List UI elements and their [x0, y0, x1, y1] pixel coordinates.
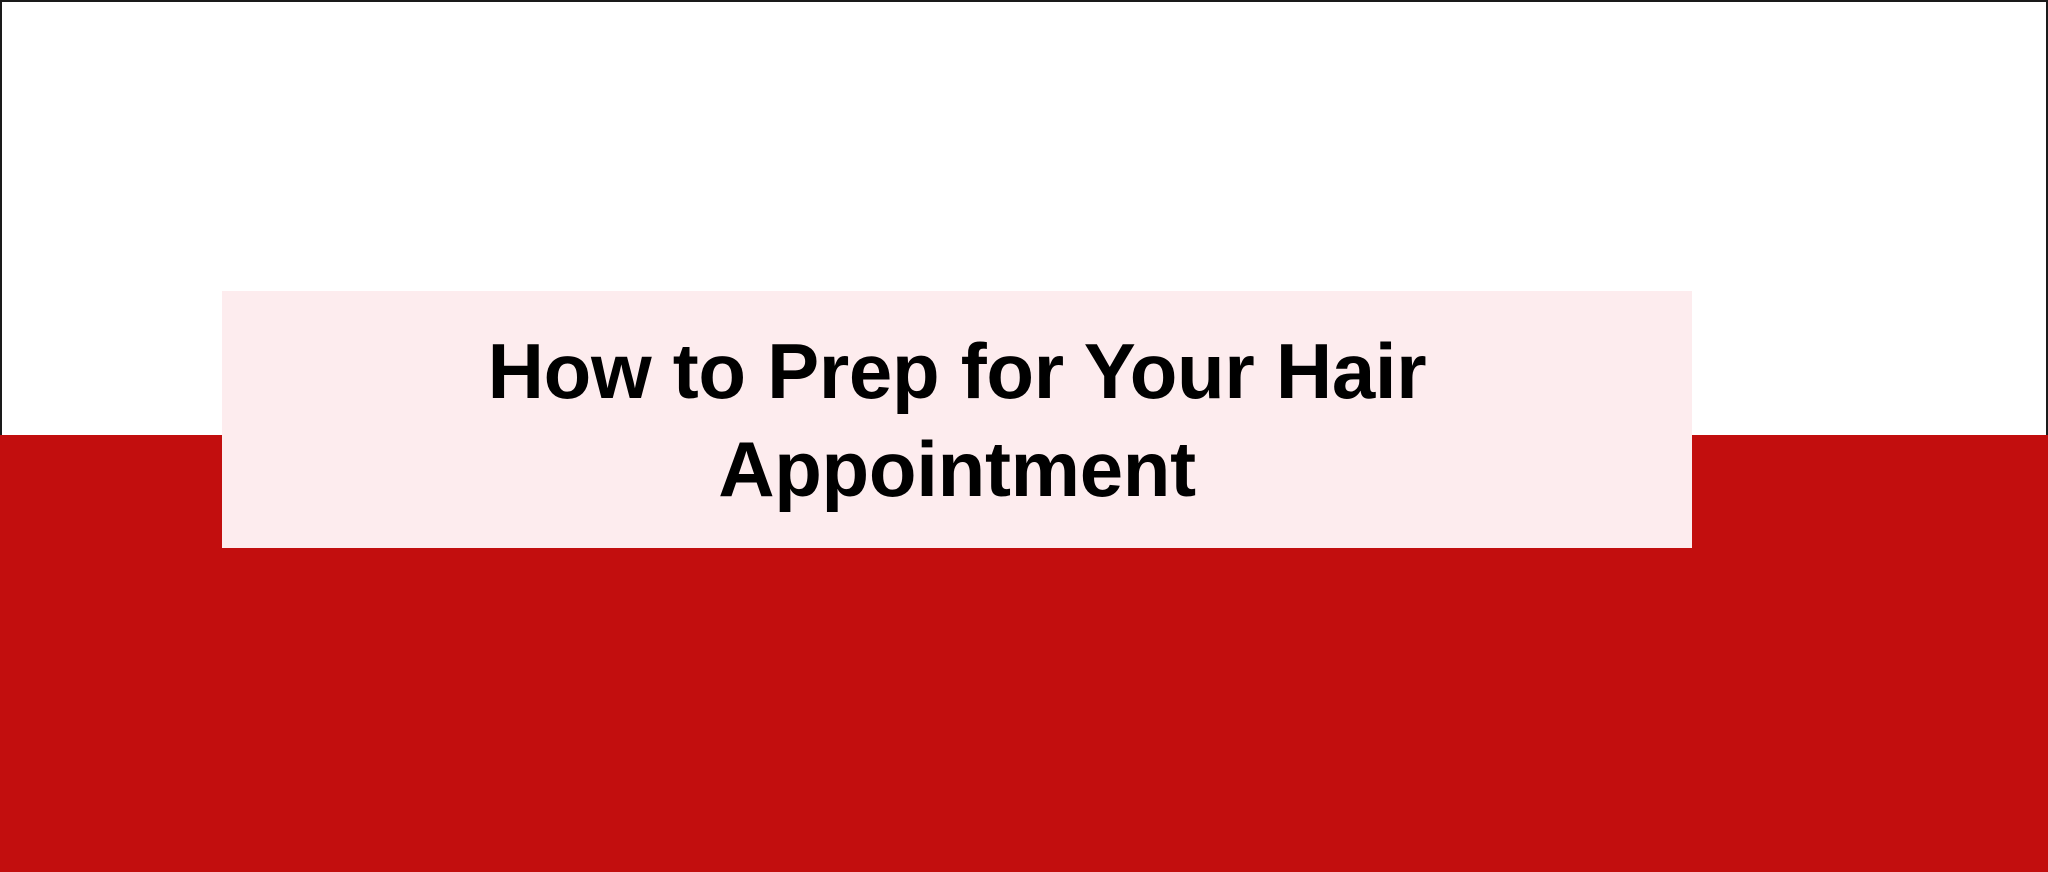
title-plate: How to Prep for Your Hair Appointment	[222, 291, 1692, 548]
banner-canvas: How to Prep for Your Hair Appointment	[0, 0, 2048, 872]
banner-title: How to Prep for Your Hair Appointment	[222, 322, 1692, 518]
